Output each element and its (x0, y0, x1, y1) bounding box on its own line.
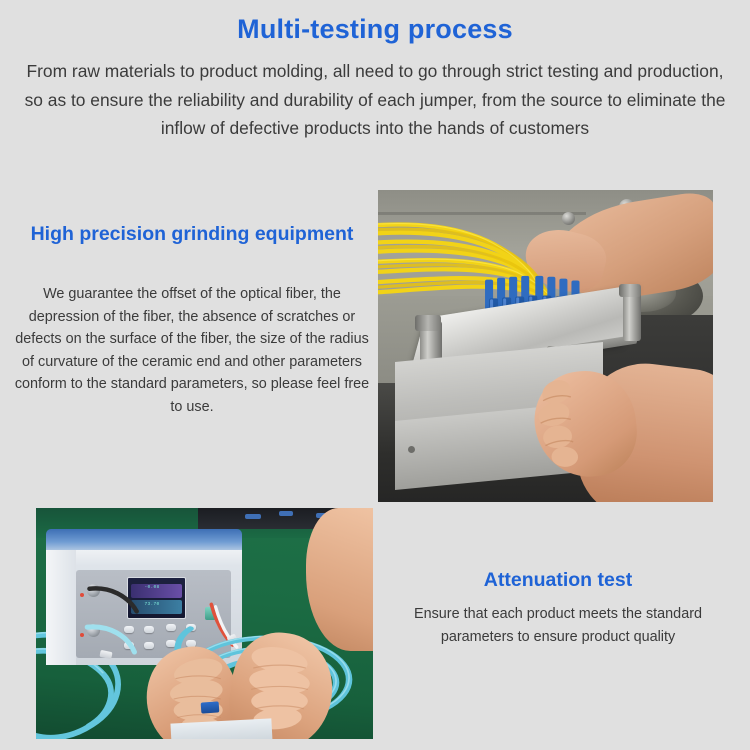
photo-bench-edge (378, 212, 586, 215)
section-title-attenuation: Attenuation test (383, 569, 733, 592)
section-title-grinding: High precision grinding equipment (22, 220, 362, 248)
section-body-attenuation: Ensure that each product meets the stand… (383, 603, 733, 648)
clamp-post-cap (619, 284, 641, 297)
page-root: Multi-testing process From raw materials… (0, 0, 750, 750)
background-blue-part (279, 511, 293, 516)
machine-screw-hole (408, 446, 415, 453)
operator-fingers (525, 362, 646, 487)
page-intro-text: From raw materials to product molding, a… (22, 57, 728, 143)
clamp-post-cap (415, 315, 441, 331)
high-precision-grinding-equipment-photo (378, 190, 713, 502)
attenuation-test-photo: -0.08 73.70 (36, 508, 373, 739)
background-blue-part (245, 514, 261, 519)
section-body-grinding: We guarantee the offset of the optical f… (14, 283, 370, 418)
blue-lc-connector (201, 701, 220, 713)
power-meter-left-side (46, 550, 76, 666)
page-title: Multi-testing process (0, 14, 750, 45)
